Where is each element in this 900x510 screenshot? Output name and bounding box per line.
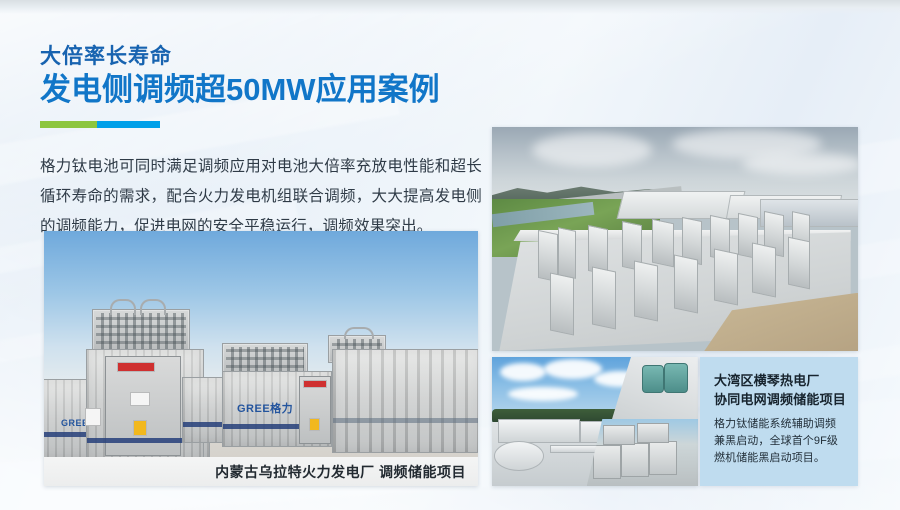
info-card-description: 格力钛储能系统辅助调频兼黑启动，全球首个9F级燃机储能黑启动项目。 [714, 416, 846, 467]
inset-container-photo [587, 419, 698, 486]
cloud [544, 359, 602, 379]
status-light [117, 362, 155, 372]
container-unit [603, 425, 635, 445]
kicker-text: 大倍率长寿命 [40, 44, 480, 69]
status-light [303, 380, 327, 388]
container-roof-rack [92, 309, 190, 353]
cloud [508, 387, 578, 401]
photo-hengqin-plant [492, 357, 698, 486]
photo-caption-bar: 内蒙古乌拉特火力发电厂 调频储能项目 [44, 457, 478, 486]
container-unit [714, 248, 738, 305]
cloud [532, 133, 652, 167]
page-title: 发电侧调频超50MW应用案例 [40, 72, 480, 109]
container-unit [652, 219, 674, 268]
gree-logo: GREE格力 [237, 400, 293, 416]
container-unit [634, 260, 658, 321]
container-unit [558, 227, 576, 279]
circular-basin [494, 441, 544, 471]
photo-aerial-storage-yard [492, 127, 858, 351]
storage-tank [642, 365, 664, 393]
photo-inner-mongolia: GREE格力 GREE格力 [44, 231, 478, 486]
label-plate [130, 392, 150, 406]
warning-label [133, 420, 147, 436]
photo-caption-text: 内蒙古乌拉特火力发电厂 调频储能项目 [215, 462, 478, 482]
container-unit [788, 237, 810, 290]
cooling-structure [498, 419, 580, 443]
container-unit [593, 445, 621, 479]
container-unit [550, 272, 574, 335]
project-info-card: 大湾区横琴热电厂 协同电网调频储能项目 格力钛储能系统辅助调频兼黑启动，全球首个… [700, 357, 858, 486]
cloud [742, 153, 858, 175]
accent-divider [40, 121, 160, 128]
roof-handrail [140, 299, 166, 315]
container-unit [592, 266, 616, 329]
info-card-title-line2: 协同电网调频储能项目 [714, 390, 846, 409]
warning-label [309, 418, 320, 431]
top-edge-shade [0, 0, 900, 14]
divider-blue-segment [97, 121, 160, 128]
body-paragraph: 格力钛电池可同时满足调频应用对电池大倍率充放电性能和超长循环寿命的需求，配合火力… [40, 152, 482, 242]
container-unit [621, 443, 649, 477]
storage-tank [664, 363, 688, 393]
container-unit [637, 423, 669, 443]
headline-block: 大倍率长寿命 发电侧调频超50MW应用案例 [40, 44, 480, 128]
container-unit [752, 242, 776, 297]
side-panel-box [85, 408, 101, 426]
info-card-title-line1: 大湾区横琴热电厂 [714, 371, 846, 390]
roof-handrail [110, 299, 136, 315]
slide-root: 大倍率长寿命 发电侧调频超50MW应用案例 格力钛电池可同时满足调频应用对电池大… [0, 0, 900, 510]
cloud [500, 363, 546, 381]
container-unit [674, 254, 698, 313]
container-bank-right [332, 349, 478, 453]
container-unit-gree: GREE格力 [222, 371, 332, 447]
divider-green-segment [40, 121, 97, 128]
roof-handrail [344, 327, 374, 339]
container-unit [649, 441, 677, 475]
